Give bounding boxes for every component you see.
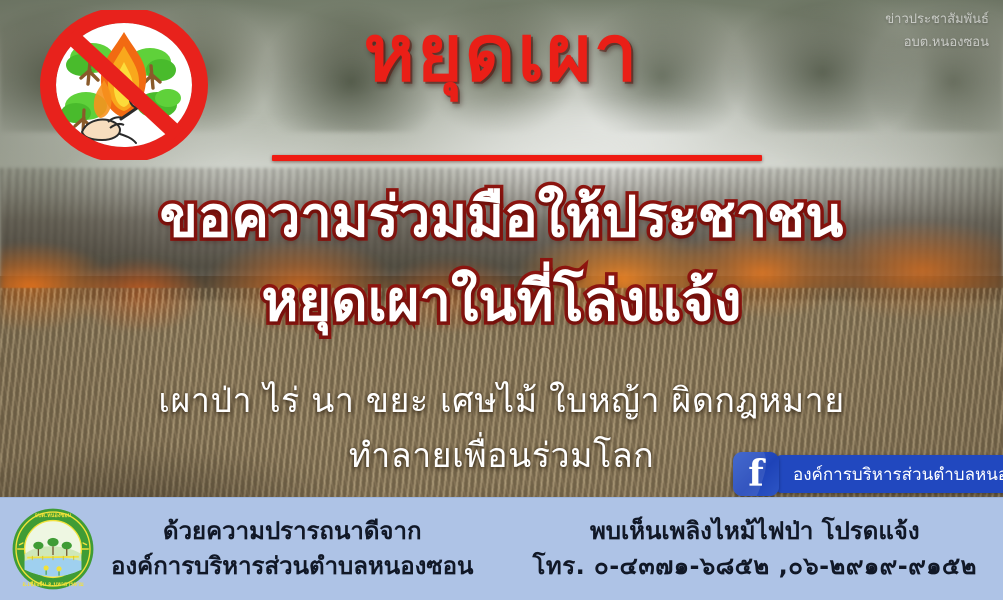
subheadline-line-1: ขอความร่วมมือให้ประชาชน: [0, 186, 1003, 250]
body-line-1: เผาป่า ไร่ นา ขยะ เศษไม้ ใบหญ้า ผิดกฎหมา…: [0, 380, 1003, 423]
facebook-badge[interactable]: f องค์การบริหารส่วนตำบลหนองซอน: [733, 452, 1003, 496]
facebook-icon[interactable]: f: [733, 452, 779, 496]
public-announcement-poster: ข่าวประชาสัมพันธ์ อบต.หนองซอน หยุดเผา ขอ…: [0, 0, 1003, 600]
footer-left-text: ด้วยความปรารถนาดีจาก องค์การบริหารส่วนตำ…: [96, 514, 507, 584]
footer-left-line-1: ด้วยความปรารถนาดีจาก: [96, 514, 489, 549]
contact-phone-numbers: โทร. ๐-๔๓๗๑-๖๘๕๒ ,๐๖-๒๙๑๙-๙๑๕๒: [507, 549, 1003, 584]
svg-text:อบต.หนองซอน: อบต.หนองซอน: [35, 512, 72, 519]
footer-left-section: อบต.หนองซอน อ.เชียงยืน จ.มหาสารคาม ด้วยค…: [0, 506, 507, 592]
facebook-page-name[interactable]: องค์การบริหารส่วนตำบลหนองซอน: [775, 455, 1003, 493]
svg-text:อ.เชียงยืน จ.มหาสารคาม: อ.เชียงยืน จ.มหาสารคาม: [22, 581, 84, 588]
footer-left-line-2: องค์การบริหารส่วนตำบลหนองซอน: [96, 549, 489, 584]
footer-bar: อบต.หนองซอน อ.เชียงยืน จ.มหาสารคาม ด้วยค…: [0, 497, 1003, 600]
subheadline-line-2: หยุดเผาในที่โล่งแจ้ง: [0, 270, 1003, 334]
page-title: หยุดเผา: [0, 14, 1003, 96]
footer-right-section: พบเห็นเพลิงไหม้ไฟป่า โปรดแจ้ง โทร. ๐-๔๓๗…: [507, 514, 1003, 584]
footer-right-line-1: พบเห็นเพลิงไหม้ไฟป่า โปรดแจ้ง: [507, 514, 1003, 549]
municipality-seal-icon: อบต.หนองซอน อ.เชียงยืน จ.มหาสารคาม: [10, 506, 96, 592]
divider: [272, 155, 762, 161]
facebook-f-glyph: f: [733, 456, 779, 492]
